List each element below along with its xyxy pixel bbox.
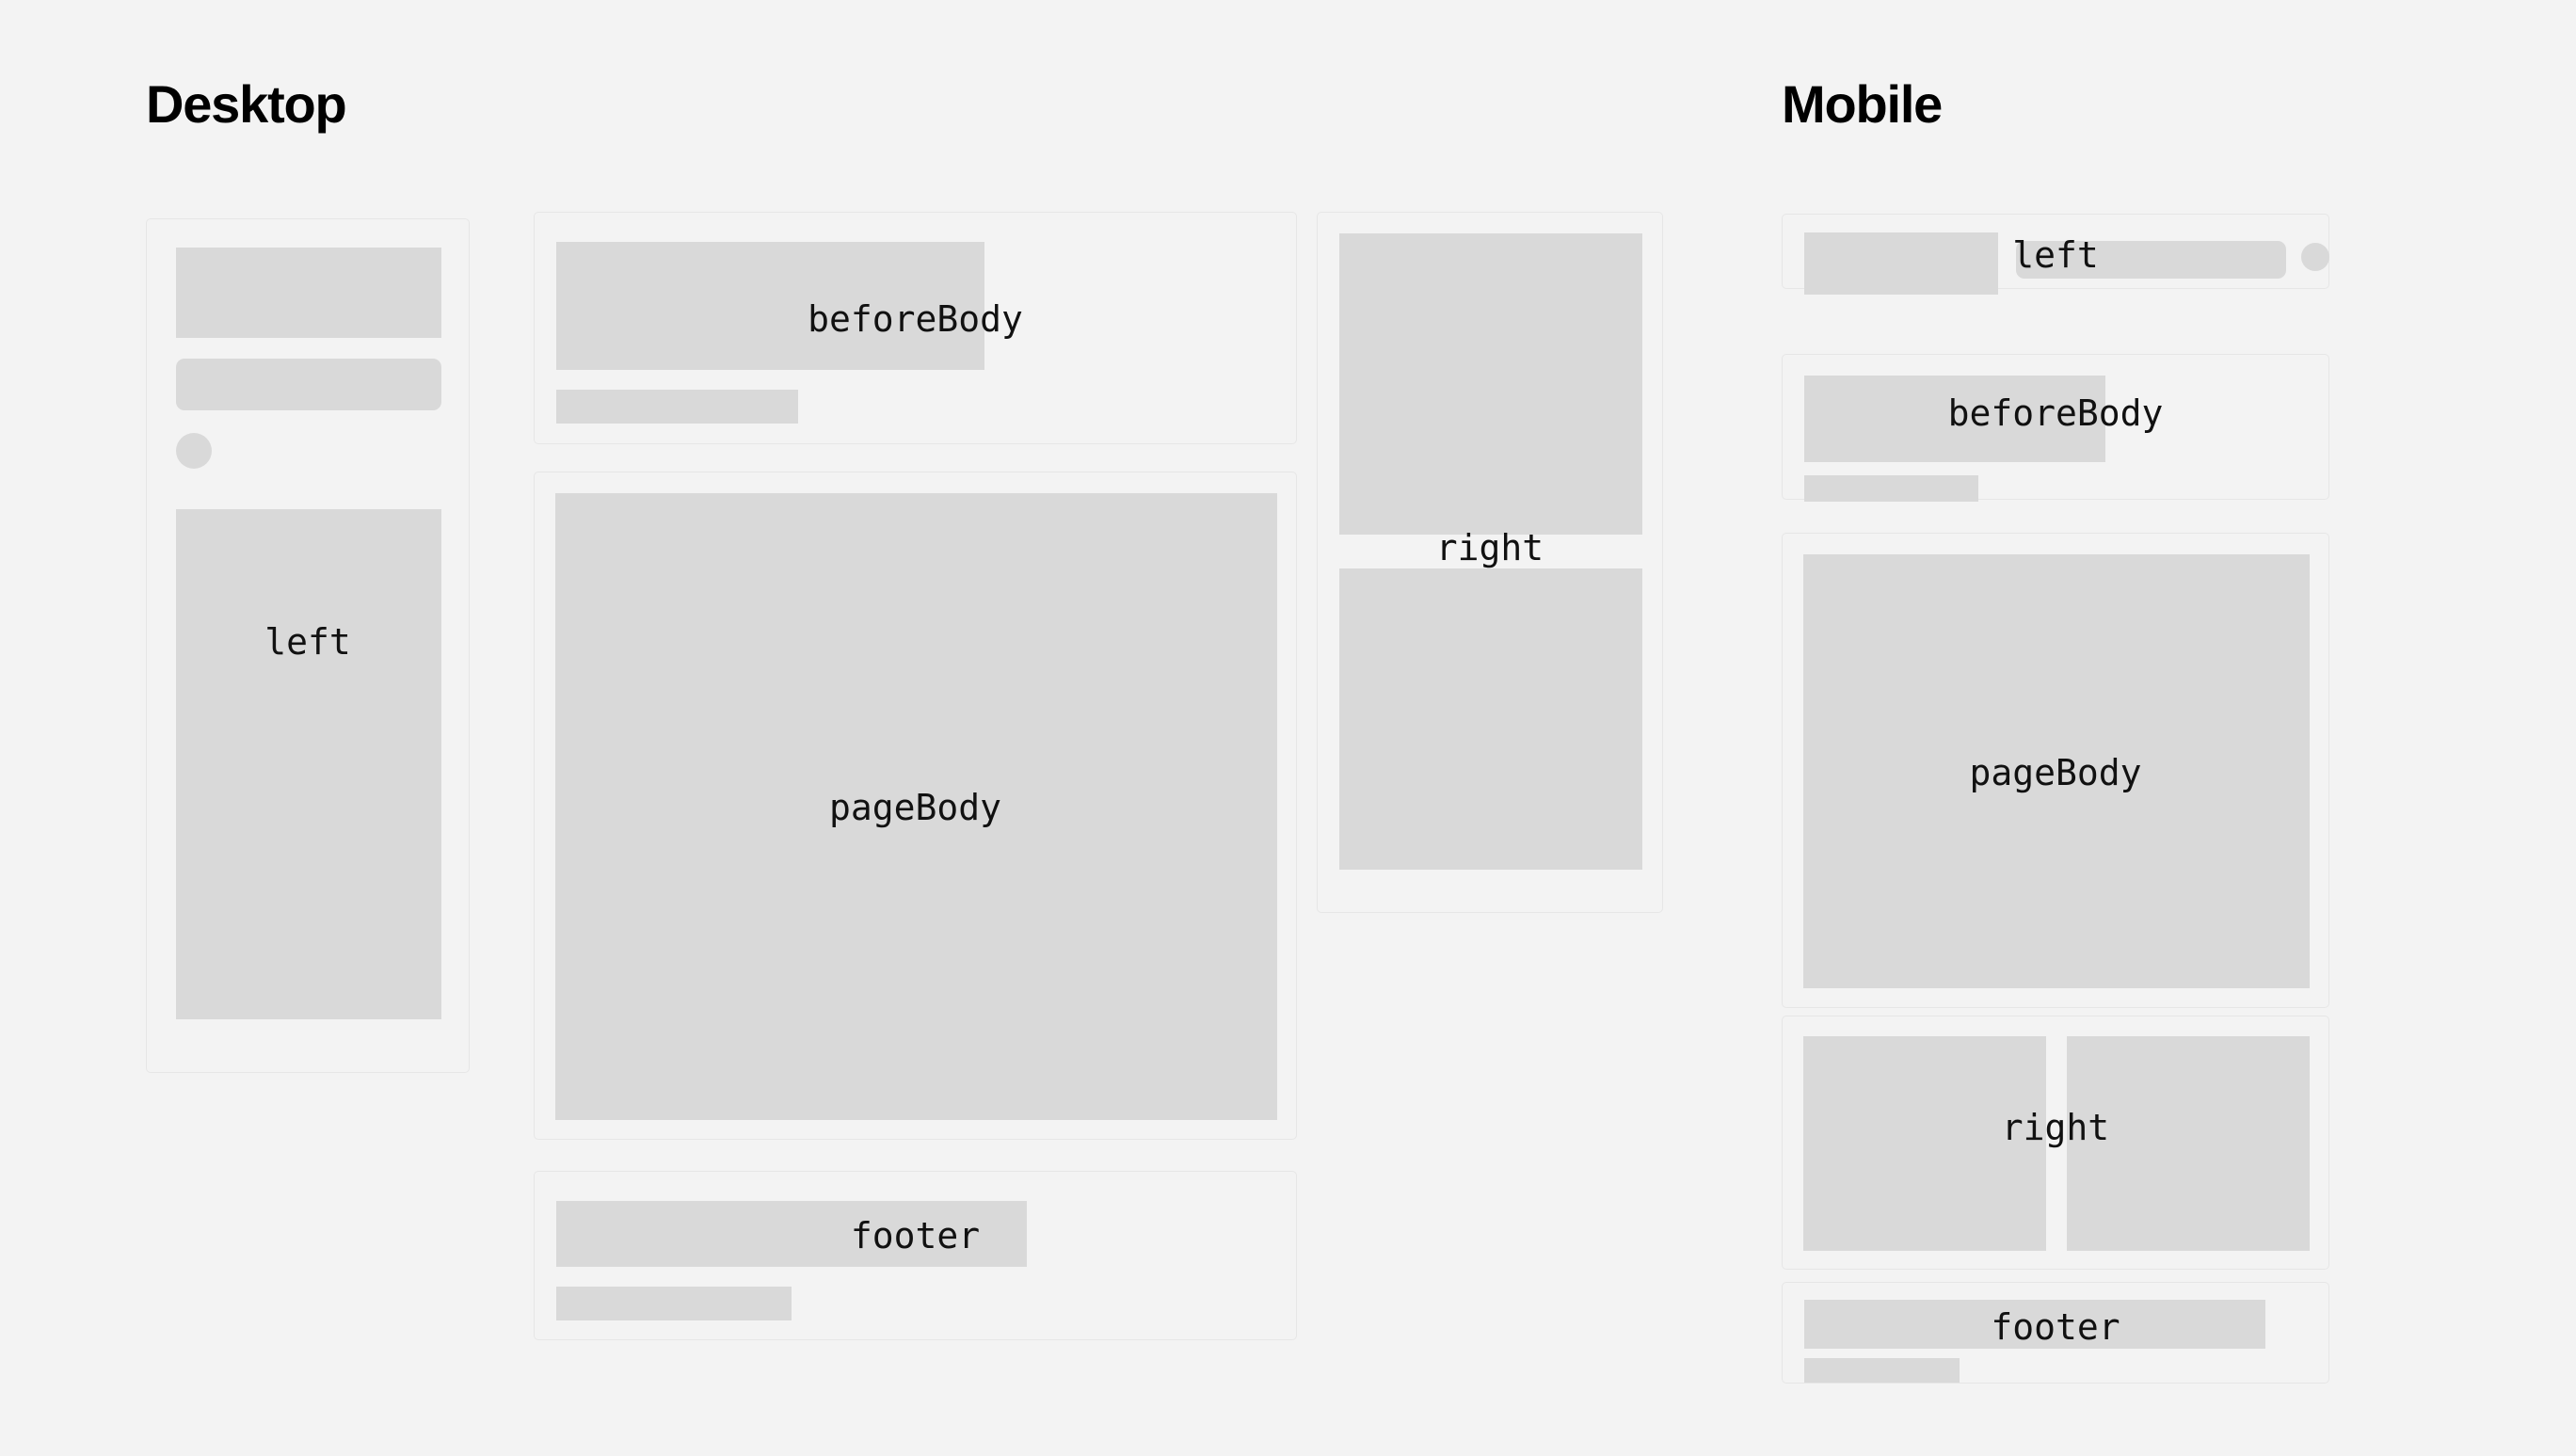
mobile-right-widget-block-left — [1803, 1036, 2046, 1251]
desktop-footer-block — [556, 1201, 1027, 1267]
desktop-right-widget-block-top — [1339, 233, 1642, 535]
mobile-beforebody-hero-block — [1804, 376, 2105, 462]
mobile-region-beforebody[interactable]: beforeBody — [1782, 354, 2329, 500]
desktop-left-search-block — [176, 359, 441, 410]
mobile-region-right[interactable]: right — [1782, 1016, 2329, 1270]
mobile-beforebody-caption-block — [1804, 475, 1978, 502]
mobile-section-title: Mobile — [1782, 78, 1942, 131]
desktop-section-title: Desktop — [146, 78, 346, 131]
mobile-footer-legal-block — [1804, 1358, 1960, 1383]
mobile-left-banner-block — [1804, 232, 1998, 295]
mobile-left-search-block — [2016, 241, 2286, 279]
mobile-footer-block — [1804, 1300, 2265, 1349]
desktop-region-left[interactable]: left — [146, 218, 470, 1073]
wireframe-canvas: Desktop left beforeBody pageBody right f… — [0, 0, 2576, 1456]
mobile-right-widget-block-right — [2067, 1036, 2310, 1251]
mobile-region-pagebody[interactable]: pageBody — [1782, 533, 2329, 1008]
desktop-right-label: right — [1318, 530, 1662, 566]
desktop-region-beforebody[interactable]: beforeBody — [534, 212, 1297, 444]
desktop-left-avatar-circle-icon — [176, 433, 212, 469]
mobile-left-avatar-circle-icon — [2301, 243, 2329, 271]
mobile-region-footer[interactable]: footer — [1782, 1282, 2329, 1384]
desktop-beforebody-hero-block — [556, 242, 984, 370]
mobile-pagebody-content-block — [1803, 554, 2310, 988]
desktop-left-nav-block — [176, 509, 441, 1019]
desktop-footer-legal-block — [556, 1287, 792, 1320]
desktop-pagebody-content-block — [555, 493, 1277, 1120]
desktop-region-pagebody[interactable]: pageBody — [534, 472, 1297, 1140]
desktop-region-right[interactable]: right — [1317, 212, 1663, 913]
mobile-region-left[interactable]: left — [1782, 214, 2329, 289]
desktop-left-banner-block — [176, 248, 441, 338]
desktop-beforebody-caption-block — [556, 390, 798, 424]
desktop-region-footer[interactable]: footer — [534, 1171, 1297, 1340]
desktop-right-widget-block-bottom — [1339, 568, 1642, 870]
